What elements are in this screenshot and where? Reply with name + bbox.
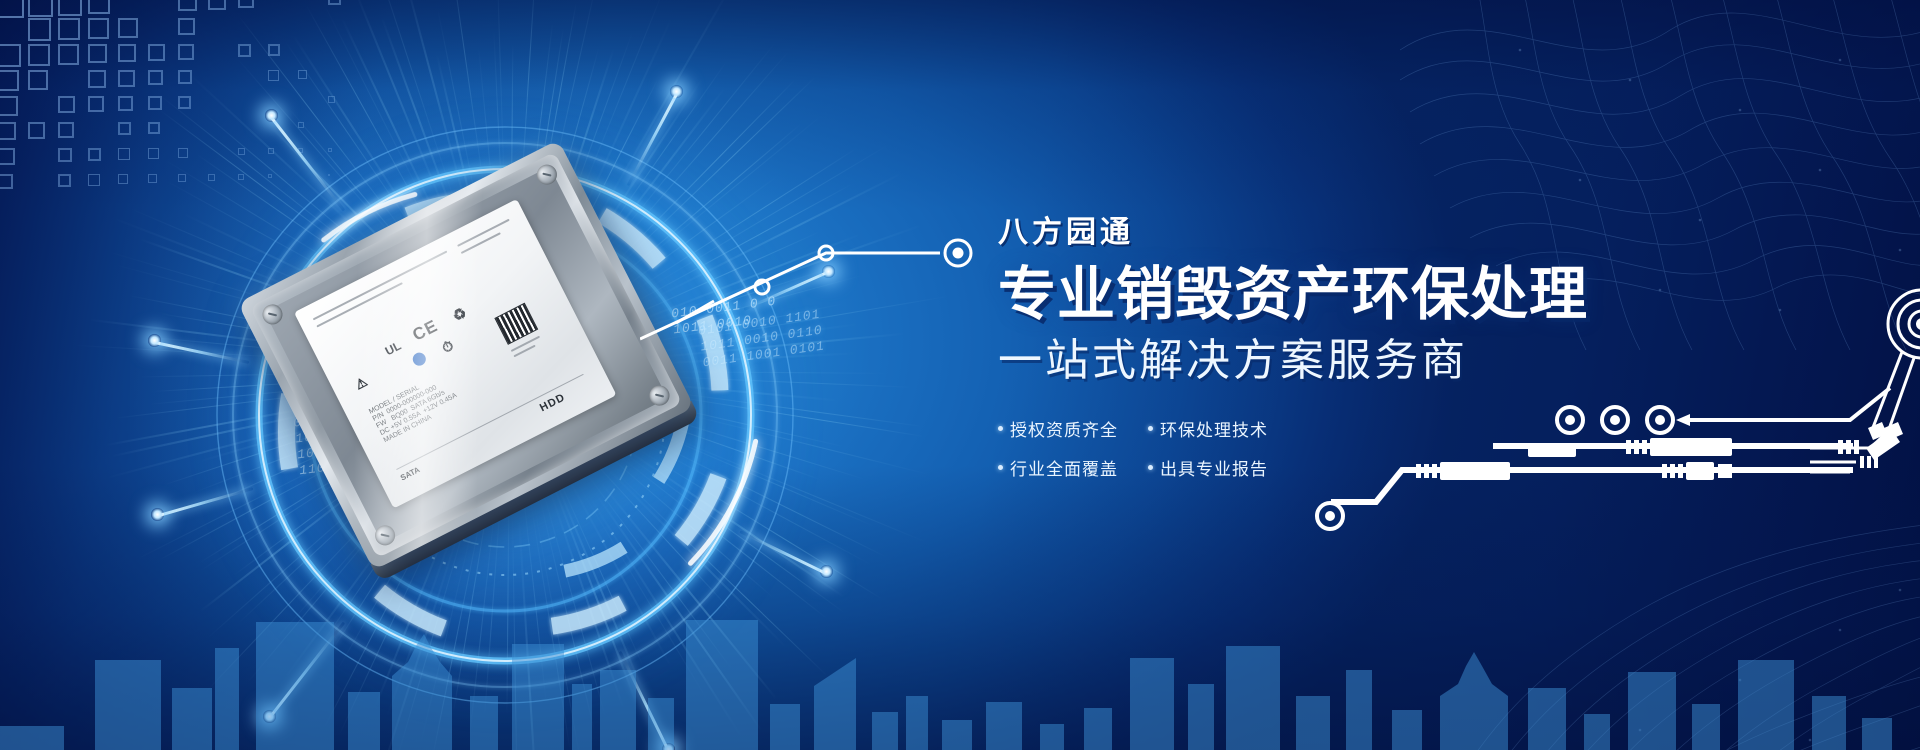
copy-block: 八方园通 专业销毁资产环保处理 一站式解决方案服务商 授权资质齐全 环保处理技术… [998,218,1738,494]
feature-label: 环保处理技术 [1160,416,1268,441]
feature-row: 行业全面覆盖 出具专业报告 [998,455,1308,480]
grid-square [0,70,19,91]
bullet-dot-icon [1148,426,1153,431]
light-spike-tip [265,109,278,122]
grid-square [28,18,51,41]
light-spike-tip [151,508,164,521]
subheadline: 一站式解决方案服务商 [998,337,1738,385]
circuit-dial-graphic [1810,280,1920,480]
grid-square [0,148,15,165]
grid-square [28,70,48,90]
headline: 专业销毁资产环保处理 [998,264,1738,325]
feature-label: 行业全面覆盖 [1010,455,1118,480]
grid-square [0,96,18,116]
feature-row: 授权资质齐全 环保处理技术 [998,416,1308,441]
promo-banner: 0100 1001 1000 1001 1011 0010 1010 0110 … [0,0,1920,750]
grid-square [0,44,21,67]
grid-square [0,122,16,140]
grid-square [58,174,71,187]
bullet-dot-icon [998,426,1003,431]
feature-item: 出具专业报告 [1148,455,1298,480]
grid-square [28,44,50,66]
grid-square [0,174,13,189]
feature-label: 出具专业报告 [1160,455,1268,480]
feature-item: 授权资质齐全 [998,416,1148,441]
grid-square [28,122,45,139]
grid-square [28,0,53,17]
feature-item: 行业全面覆盖 [998,455,1148,480]
connector-line-graphic [640,215,1020,345]
bullet-dot-icon [1148,465,1153,470]
city-skyline-silhouette [0,600,1920,750]
feature-label: 授权资质齐全 [1010,416,1118,441]
feature-list: 授权资质齐全 环保处理技术 行业全面覆盖 出具专业报告 [998,416,1308,480]
grid-square [0,0,24,18]
bullet-dot-icon [998,465,1003,470]
feature-item: 环保处理技术 [1148,416,1298,441]
brand-name: 八方园通 [998,218,1738,248]
